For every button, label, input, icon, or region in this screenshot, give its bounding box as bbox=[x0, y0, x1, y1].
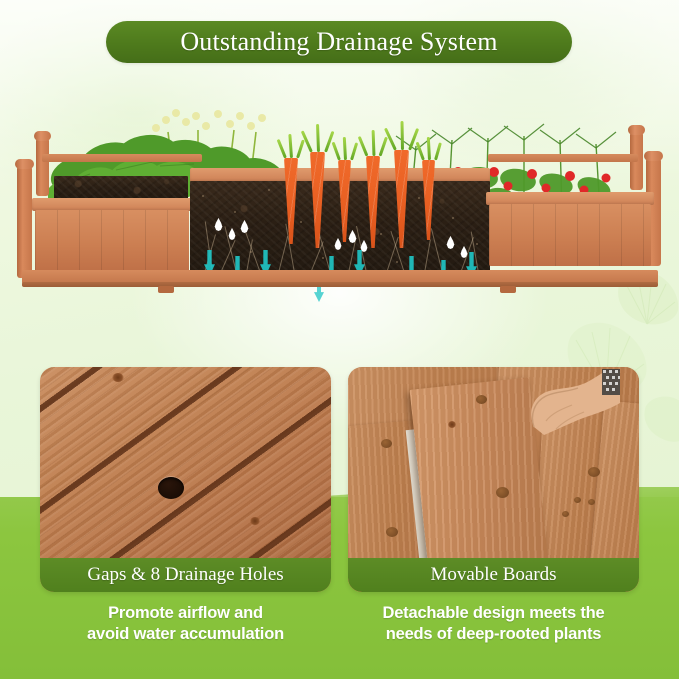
caption-bar-drainage: Gaps & 8 Drainage Holes bbox=[40, 558, 331, 592]
feature-card-drainage: Gaps & 8 Drainage Holes Promote airflow … bbox=[40, 367, 331, 645]
infographic-canvas: Outstanding Drainage System bbox=[0, 0, 679, 679]
board-peg bbox=[381, 439, 392, 448]
board-peg bbox=[386, 527, 398, 537]
caption-label: Gaps & 8 Drainage Holes bbox=[87, 564, 283, 586]
drainage-photo: Gaps & 8 Drainage Holes bbox=[40, 367, 331, 592]
carrot-greens bbox=[419, 137, 439, 160]
carrot-1 bbox=[284, 158, 298, 244]
box-left-front-panel bbox=[35, 210, 189, 272]
planter-base-shadow bbox=[22, 282, 658, 287]
board-peg bbox=[562, 511, 569, 517]
subtitle-line-1: Promote airflow and bbox=[40, 603, 331, 624]
board-peg bbox=[574, 497, 581, 503]
caption-bar-movable: Movable Boards bbox=[348, 558, 639, 592]
board-peg bbox=[588, 499, 595, 505]
movable-boards-photo: Movable Boards bbox=[348, 367, 639, 592]
carrot-body bbox=[284, 158, 298, 244]
carrot-greens bbox=[307, 124, 329, 152]
leaf-watermark-3 bbox=[640, 395, 679, 443]
carrot-body bbox=[310, 152, 325, 248]
wood-knot bbox=[250, 517, 260, 525]
carrot-body bbox=[366, 156, 380, 248]
board-peg bbox=[588, 467, 600, 477]
box-right-front-panel bbox=[489, 204, 651, 266]
carrot-greens bbox=[363, 130, 384, 156]
carrot-greens bbox=[391, 121, 413, 150]
rail-back-right bbox=[488, 154, 638, 162]
wood-knot bbox=[448, 421, 456, 428]
root-hair bbox=[424, 239, 431, 273]
carrot-greens bbox=[335, 137, 355, 160]
post-cap bbox=[34, 131, 51, 141]
hand-icon bbox=[510, 369, 620, 439]
card-subtitle-movable: Detachable design meets the needs of dee… bbox=[348, 603, 639, 645]
planter-foot-right bbox=[500, 286, 516, 293]
carrot-body bbox=[394, 150, 409, 248]
board-peg bbox=[496, 487, 509, 498]
drainage-hole bbox=[158, 477, 184, 499]
card-subtitle-drainage: Promote airflow and avoid water accumula… bbox=[40, 603, 331, 645]
subtitle-line-1: Detachable design meets the bbox=[348, 603, 639, 624]
carrot-6 bbox=[422, 160, 435, 240]
header-banner: Outstanding Drainage System bbox=[106, 21, 572, 63]
hero-planter-illustration bbox=[8, 110, 671, 295]
wood-knot bbox=[112, 373, 124, 382]
subtitle-line-2: avoid water accumulation bbox=[40, 624, 331, 645]
carrot-5 bbox=[394, 150, 409, 248]
corner-post-back-left bbox=[36, 138, 49, 196]
corner-post-front-left bbox=[17, 166, 32, 278]
post-cap bbox=[15, 159, 34, 169]
caption-label: Movable Boards bbox=[430, 564, 556, 586]
rail-back-left bbox=[42, 154, 202, 162]
planter-foot-left bbox=[158, 286, 174, 293]
post-cap bbox=[628, 125, 645, 135]
page-title: Outstanding Drainage System bbox=[180, 27, 497, 57]
carrot-2 bbox=[310, 152, 325, 248]
carrot-body bbox=[338, 160, 351, 242]
board-peg bbox=[476, 395, 487, 404]
root-hair bbox=[220, 240, 236, 273]
subtitle-line-2: needs of deep-rooted plants bbox=[348, 624, 639, 645]
feature-card-movable-boards: Movable Boards Detachable design meets t… bbox=[348, 367, 639, 645]
carrot-greens bbox=[281, 134, 301, 158]
carrot-4 bbox=[366, 156, 380, 248]
carrot-body bbox=[422, 160, 435, 240]
root-hair bbox=[348, 238, 356, 273]
post-cap bbox=[644, 151, 663, 161]
carrot-3 bbox=[338, 160, 351, 242]
